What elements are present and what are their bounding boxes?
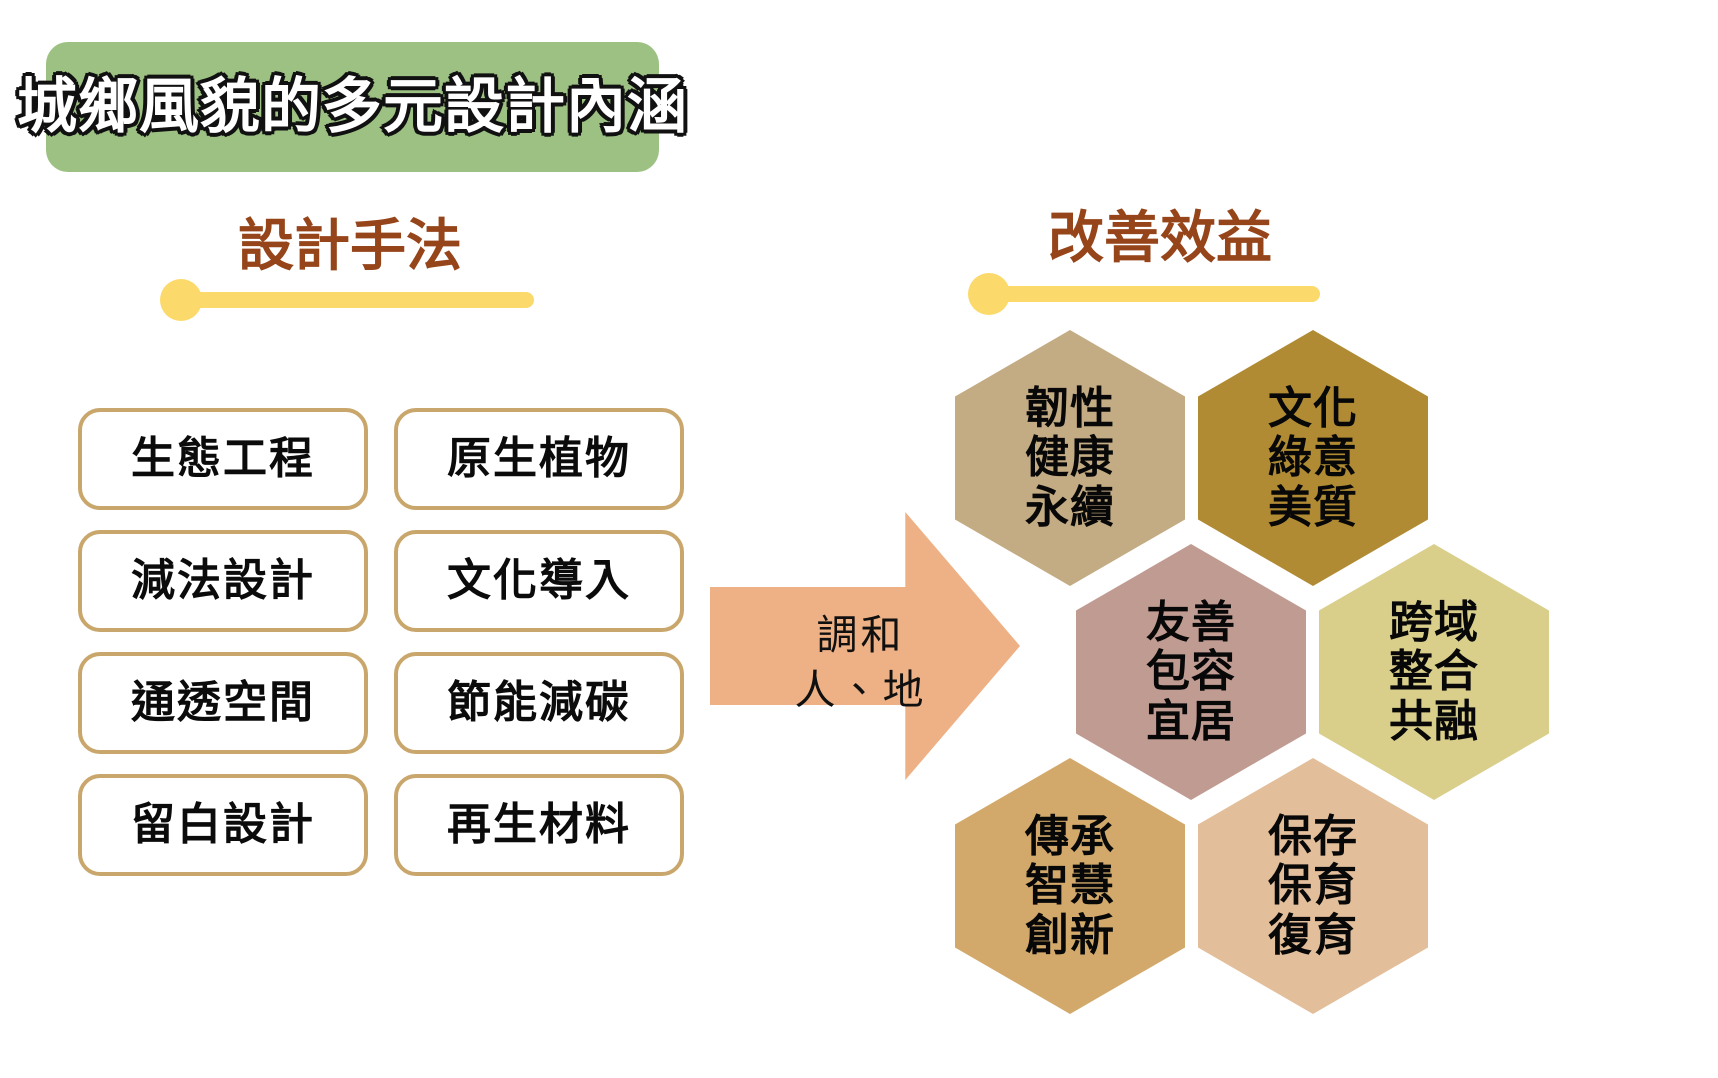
method-box[interactable]: 再生材料 [394, 774, 684, 876]
infographic-canvas: 城鄉風貌的多元設計內涵 設計手法 改善效益 生態工程 原生植物 減法設計 文化導… [0, 0, 1718, 1078]
method-label: 通透空間 [131, 681, 315, 725]
method-label: 節能減碳 [447, 681, 631, 725]
benefit-hexagon-center[interactable]: 友善 包容 宜居 [1076, 544, 1306, 800]
benefit-hexagon-text: 韌性 健康 永續 [1025, 384, 1115, 532]
method-label: 生態工程 [131, 437, 315, 481]
benefit-hexagon[interactable]: 保存 保育 復育 [1198, 758, 1428, 1014]
benefit-line: 美質 [1268, 483, 1358, 532]
method-box[interactable]: 節能減碳 [394, 652, 684, 754]
benefit-line: 包容 [1146, 647, 1236, 696]
benefit-hexagon-field: 韌性 健康 永續 文化 綠意 美質 友善 包容 宜居 跨域 整合 共融 [930, 322, 1500, 982]
benefit-hexagon-text: 友善 包容 宜居 [1146, 598, 1236, 746]
benefit-hexagon[interactable]: 韌性 健康 永續 [955, 330, 1185, 586]
benefit-hexagon[interactable]: 傳承 智慧 創新 [955, 758, 1185, 1014]
benefit-hexagon-text: 文化 綠意 美質 [1268, 384, 1358, 532]
method-box[interactable]: 原生植物 [394, 408, 684, 510]
header-rule-right [990, 286, 1320, 302]
benefit-line: 保存 [1268, 812, 1358, 861]
benefit-line: 整合 [1389, 647, 1479, 696]
benefit-line: 跨域 [1389, 598, 1479, 647]
method-box[interactable]: 生態工程 [78, 408, 368, 510]
section-header-label-right: 改善效益 [960, 210, 1360, 266]
section-header-benefits: 改善效益 [960, 210, 1360, 266]
benefit-line: 智慧 [1025, 861, 1115, 910]
method-label: 再生材料 [447, 803, 631, 847]
benefit-line: 保育 [1268, 861, 1358, 910]
benefit-line: 文化 [1268, 384, 1358, 433]
benefit-line: 復育 [1268, 911, 1358, 960]
method-label: 文化導入 [447, 559, 631, 603]
benefit-line: 綠意 [1268, 433, 1358, 482]
benefit-line: 宜居 [1146, 697, 1236, 746]
method-box[interactable]: 文化導入 [394, 530, 684, 632]
benefit-line: 健康 [1025, 433, 1115, 482]
design-method-grid: 生態工程 原生植物 減法設計 文化導入 通透空間 節能減碳 留白設計 再生材料 [78, 408, 684, 876]
header-dot-left-icon [160, 279, 202, 321]
header-dot-right-icon [968, 273, 1010, 315]
title-banner: 城鄉風貌的多元設計內涵 [46, 42, 659, 172]
method-label: 留白設計 [131, 803, 315, 847]
method-label: 減法設計 [131, 559, 315, 603]
benefit-hexagon[interactable]: 文化 綠意 美質 [1198, 330, 1428, 586]
benefit-hexagon[interactable]: 跨域 整合 共融 [1319, 544, 1549, 800]
page-title: 城鄉風貌的多元設計內涵 [17, 77, 688, 137]
benefit-hexagon-text: 傳承 智慧 創新 [1025, 812, 1115, 960]
method-box[interactable]: 通透空間 [78, 652, 368, 754]
section-header-design-methods: 設計手法 [160, 218, 540, 274]
benefit-line: 共融 [1389, 697, 1479, 746]
method-box[interactable]: 留白設計 [78, 774, 368, 876]
benefit-hexagon-text: 跨域 整合 共融 [1389, 598, 1479, 746]
benefit-line: 傳承 [1025, 812, 1115, 861]
header-rule-left [178, 292, 534, 308]
arrow-label-line: 人、地 [768, 663, 953, 718]
benefit-hexagon-text: 保存 保育 復育 [1268, 812, 1358, 960]
benefit-line: 創新 [1025, 911, 1115, 960]
method-box[interactable]: 減法設計 [78, 530, 368, 632]
arrow-label-line: 調和 [768, 608, 953, 663]
method-label: 原生植物 [447, 437, 631, 481]
arrow-label: 調和 人、地 [768, 608, 953, 719]
benefit-line: 友善 [1146, 598, 1236, 647]
section-header-label-left: 設計手法 [160, 218, 540, 274]
benefit-line: 韌性 [1025, 384, 1115, 433]
benefit-line: 永續 [1025, 483, 1115, 532]
